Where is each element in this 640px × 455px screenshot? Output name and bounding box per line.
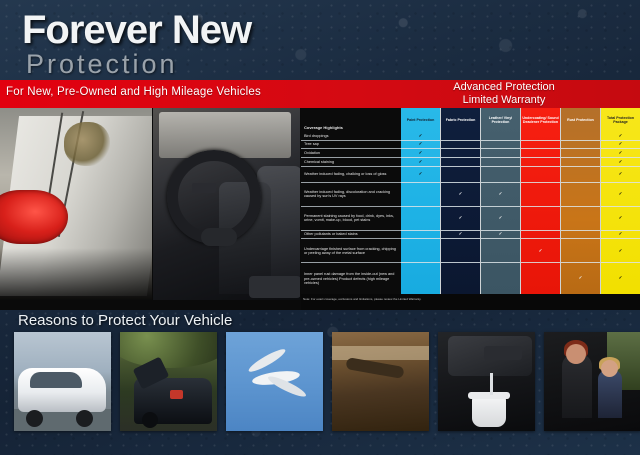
car-exterior-photo	[0, 108, 152, 300]
column-header-label: Total Protection Package	[601, 108, 640, 132]
coverage-cell-checked: ✓	[601, 207, 640, 231]
column-paint-protection[interactable]: Paint Protection ✓✓✓✓✓	[401, 108, 441, 294]
column-header-label: Leather/ Vinyl Protection	[481, 108, 520, 132]
column-header-label: Fabric Protection	[441, 108, 480, 132]
coverage-cell-empty	[481, 239, 520, 263]
checkmark-icon: ✓	[579, 276, 583, 281]
column-fabric-protection[interactable]: Fabric Protection ✓✓✓	[441, 108, 481, 294]
checkmark-icon: ✓	[419, 142, 423, 147]
checkmark-icon: ✓	[419, 160, 423, 165]
checkmark-icon: ✓	[619, 151, 623, 156]
coverage-cell-empty	[521, 231, 560, 240]
coverage-highlights-label: Coverage Highlights	[301, 125, 343, 132]
banner-warranty-title: Advanced Protection Limited Warranty	[404, 81, 604, 107]
coverage-cell-checked: ✓	[481, 207, 520, 231]
coverage-row-label-text: Bird droppings	[304, 134, 328, 138]
coverage-cell-empty	[441, 132, 480, 141]
adult-head	[566, 344, 586, 364]
checkmark-icon: ✓	[499, 232, 503, 237]
coverage-row-label: Other pollutants or baked stains	[301, 231, 401, 240]
coverage-row-label-column: Coverage Highlights Bird droppingsTree s…	[301, 108, 401, 294]
coverage-row-label-text: Undercarriage finished surface from crac…	[304, 247, 399, 256]
car-window	[30, 372, 82, 388]
reason-thumbnail[interactable]	[120, 332, 217, 431]
column-rust-protection[interactable]: Rust Protection ✓	[561, 108, 601, 294]
coverage-table-grid: Coverage Highlights Bird droppingsTree s…	[301, 108, 640, 294]
reason-thumbnail[interactable]	[332, 332, 429, 431]
coverage-cell-checked: ✓	[401, 132, 440, 141]
coverage-row-label-text: Permanent staining caused by food, drink…	[304, 214, 399, 223]
column-cells: ✓	[521, 132, 560, 294]
coverage-cell-empty	[401, 263, 440, 294]
coverage-cell-empty	[521, 132, 560, 141]
coverage-row-label: Weather induced fading, discoloration an…	[301, 183, 401, 207]
coverage-highlights-header: Coverage Highlights	[301, 108, 401, 132]
coverage-row-label-text: Weather induced fading, discoloration an…	[304, 190, 399, 199]
coverage-row-label: Undercarriage finished surface from crac…	[301, 239, 401, 263]
coverage-cell-empty	[441, 167, 480, 183]
column-total-protection-package[interactable]: Total Protection Package ✓✓✓✓✓✓✓✓✓✓	[601, 108, 640, 294]
coverage-cell-checked: ✓	[601, 132, 640, 141]
tail-light	[0, 190, 68, 244]
coverage-cell-checked: ✓	[601, 149, 640, 158]
coverage-row-label: Permanent staining caused by food, drink…	[301, 207, 401, 231]
masthead: Forever New Protection	[0, 0, 640, 80]
coverage-cell-empty	[441, 239, 480, 263]
coverage-cell-empty	[521, 158, 560, 167]
checkmark-icon: ✓	[619, 134, 623, 139]
coverage-row-label-text: Tree sap	[304, 142, 319, 146]
coverage-cell-checked: ✓	[481, 231, 520, 240]
column-header-label: Undercoating/ Sound Deadener Protection	[521, 108, 560, 132]
door-panel	[249, 276, 300, 298]
center-console	[201, 228, 237, 246]
coverage-row-labels: Bird droppingsTree sapOxidationChemical …	[301, 132, 401, 294]
coverage-cell-empty	[561, 207, 600, 231]
wheel	[76, 410, 93, 427]
coverage-row-label: Inner panel rust damage from the inside-…	[301, 263, 401, 294]
checkmark-icon: ✓	[419, 134, 423, 139]
checkmark-icon: ✓	[419, 172, 423, 177]
coverage-row-label-text: Inner panel rust damage from the inside-…	[304, 272, 399, 285]
reasons-title: Reasons to Protect Your Vehicle	[18, 312, 232, 329]
photo-shadow	[0, 248, 152, 300]
coverage-cell-empty	[561, 231, 600, 240]
coverage-cell-empty	[521, 263, 560, 294]
checkmark-icon: ✓	[619, 216, 623, 221]
air-vent	[484, 346, 522, 360]
coverage-cell-empty	[481, 141, 520, 150]
checkmark-icon: ✓	[619, 192, 623, 197]
coverage-cell-checked: ✓	[601, 231, 640, 240]
straw	[490, 373, 493, 395]
red-banner: For New, Pre-Owned and High Mileage Vehi…	[0, 80, 640, 108]
coverage-cell-empty	[481, 263, 520, 294]
tail-light	[170, 390, 183, 399]
coverage-table-note: Note: For exact coverage, exclusions and…	[303, 297, 633, 301]
column-cells: ✓✓✓	[481, 132, 520, 294]
coverage-cell-empty	[521, 183, 560, 207]
coverage-cell-empty	[481, 132, 520, 141]
child-head	[601, 360, 618, 377]
checkmark-icon: ✓	[459, 216, 463, 221]
coverage-cell-empty	[401, 231, 440, 240]
coverage-cell-checked: ✓	[601, 239, 640, 263]
reasons-thumbnail-row: UV RaysTree SapBird DroppingsUndercarria…	[14, 332, 628, 432]
column-undercoating-protection[interactable]: Undercoating/ Sound Deadener Protection …	[521, 108, 561, 294]
column-cells: ✓✓✓✓✓	[401, 132, 440, 294]
reflection-blur	[64, 122, 110, 166]
column-cells: ✓✓✓✓✓✓✓✓✓✓	[601, 132, 640, 294]
coverage-cell-empty	[521, 167, 560, 183]
coverage-cell-empty	[561, 149, 600, 158]
coverage-cell-empty	[481, 167, 520, 183]
coverage-cell-empty	[561, 167, 600, 183]
child-figure	[598, 370, 622, 418]
checkmark-icon: ✓	[619, 172, 623, 177]
coverage-row-label-text: Oxidation	[304, 151, 320, 155]
coverage-cell-empty	[561, 158, 600, 167]
coverage-cell-checked: ✓	[441, 183, 480, 207]
checkmark-icon: ✓	[619, 232, 623, 237]
column-leather-vinyl-protection[interactable]: Leather/ Vinyl Protection ✓✓✓	[481, 108, 521, 294]
coverage-cell-empty	[441, 149, 480, 158]
checkmark-icon: ✓	[459, 192, 463, 197]
coverage-row-label-text: Weather induced fading, chalking or loss…	[304, 172, 386, 176]
coverage-cell-checked: ✓	[601, 263, 640, 294]
coverage-cell-empty	[561, 141, 600, 150]
coverage-cell-checked: ✓	[441, 207, 480, 231]
coverage-row-label-text: Other pollutants or baked stains	[304, 232, 358, 236]
coverage-row-label: Bird droppings	[301, 132, 401, 141]
coverage-cell-empty	[521, 149, 560, 158]
column-cells: ✓✓✓	[441, 132, 480, 294]
warranty-title-line2: Limited Warranty	[404, 94, 604, 107]
checkmark-icon: ✓	[499, 216, 503, 221]
reason-thumbnail[interactable]	[226, 332, 323, 431]
checkmark-icon: ✓	[539, 249, 543, 254]
wheel	[142, 412, 158, 428]
checkmark-icon: ✓	[419, 151, 423, 156]
coverage-cell-checked: ✓	[481, 183, 520, 207]
coverage-cell-checked: ✓	[561, 263, 600, 294]
coverage-row-label: Oxidation	[301, 149, 401, 158]
coverage-cell-checked: ✓	[401, 149, 440, 158]
coverage-row-label-text: Chemical staining	[304, 160, 334, 164]
tree-canopy	[120, 332, 217, 368]
coverage-cell-empty	[561, 239, 600, 263]
coverage-cell-checked: ✓	[601, 167, 640, 183]
page-title: Forever New	[22, 8, 251, 53]
column-cells: ✓	[561, 132, 600, 294]
rust-patch	[342, 397, 420, 423]
column-header-label: Paint Protection	[401, 108, 440, 132]
coverage-cell-checked: ✓	[601, 158, 640, 167]
page-subtitle: Protection	[26, 49, 178, 80]
wheel	[26, 410, 43, 427]
coverage-cell-empty	[401, 183, 440, 207]
reason-thumbnail[interactable]	[544, 332, 640, 431]
banner-eligibility-text: For New, Pre-Owned and High Mileage Vehi…	[6, 86, 261, 98]
car-interior-photo	[153, 108, 300, 300]
coverage-row-label: Tree sap	[301, 141, 401, 150]
checkmark-icon: ✓	[619, 142, 623, 147]
checkmark-icon: ✓	[499, 192, 503, 197]
exhaust-pipe	[345, 357, 404, 379]
coverage-cell-empty	[401, 239, 440, 263]
coverage-cell-empty	[561, 183, 600, 207]
coverage-cell-checked: ✓	[521, 239, 560, 263]
checkmark-icon: ✓	[459, 232, 463, 237]
coverage-cell-empty	[481, 149, 520, 158]
main-content: Coverage Highlights Bird droppingsTree s…	[0, 108, 640, 310]
column-header-label: Rust Protection	[561, 108, 600, 132]
undercarriage-beam	[332, 346, 429, 360]
coverage-cell-empty	[441, 263, 480, 294]
coverage-cell-empty	[441, 141, 480, 150]
coverage-cell-empty	[561, 132, 600, 141]
drink-cup	[472, 397, 506, 427]
warranty-title-line1: Advanced Protection	[404, 81, 604, 94]
coverage-cell-checked: ✓	[401, 158, 440, 167]
coverage-cell-empty	[441, 158, 480, 167]
checkmark-icon: ✓	[619, 249, 623, 254]
coverage-table: Coverage Highlights Bird droppingsTree s…	[301, 108, 640, 310]
checkmark-icon: ✓	[619, 276, 623, 281]
coverage-row-label: Weather induced fading, chalking or loss…	[301, 167, 401, 183]
cup-lid	[468, 392, 510, 399]
reason-thumbnail[interactable]	[14, 332, 111, 431]
protection-brochure-poster: Forever New Protection For New, Pre-Owne…	[0, 0, 640, 455]
coverage-cell-checked: ✓	[601, 141, 640, 150]
coverage-cell-empty	[521, 207, 560, 231]
checkmark-icon: ✓	[619, 160, 623, 165]
reason-thumbnail[interactable]	[438, 332, 535, 431]
coverage-cell-checked: ✓	[441, 231, 480, 240]
reasons-section: Reasons to Protect Your Vehicle UV RaysT…	[0, 310, 640, 455]
coverage-cell-empty	[401, 207, 440, 231]
coverage-cell-empty	[481, 158, 520, 167]
coverage-cell-empty	[521, 141, 560, 150]
coverage-cell-checked: ✓	[401, 141, 440, 150]
coverage-cell-checked: ✓	[401, 167, 440, 183]
coverage-row-label: Chemical staining	[301, 158, 401, 167]
coverage-cell-checked: ✓	[601, 183, 640, 207]
